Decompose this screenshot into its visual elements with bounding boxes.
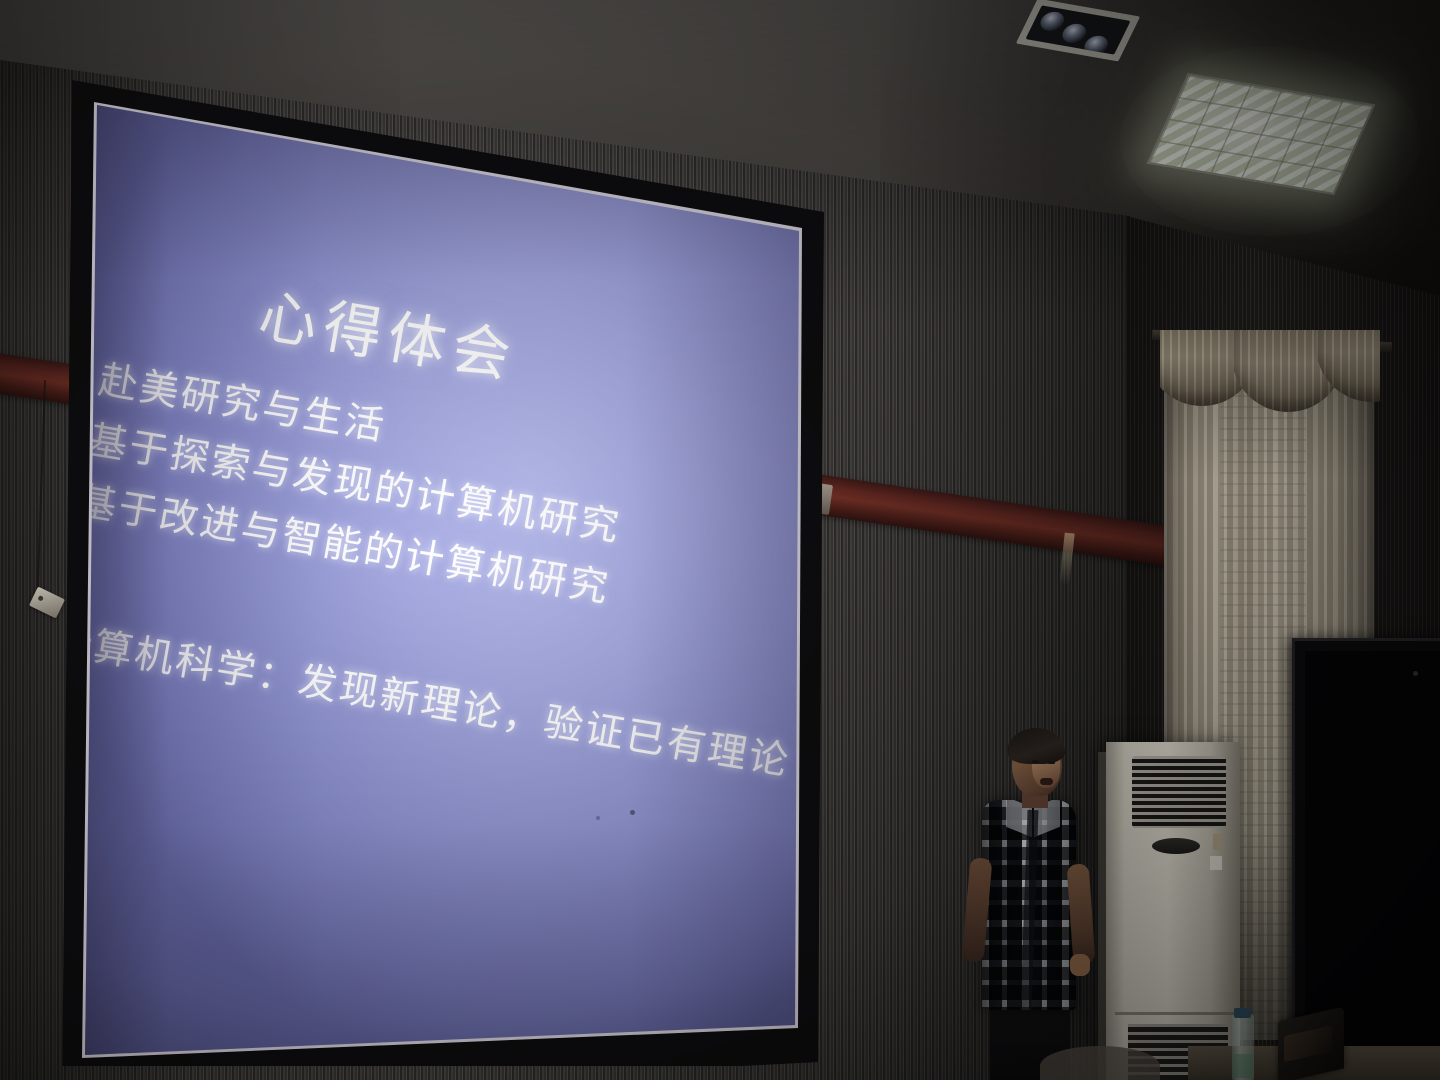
presenter-hair [1007, 728, 1065, 764]
ac-display-panel [1213, 834, 1222, 850]
presenter-plaid-shirt [982, 800, 1076, 1010]
ac-top-grille [1132, 756, 1226, 828]
switch-indicator-dot [37, 595, 44, 602]
lecture-room-scene: 心得体会 赴美研究与生活 基于探索与发现的计算机研究 基于改进与智能的计算机研究… [0, 0, 1440, 1080]
presenter-hand [1070, 954, 1090, 976]
curtain-valance [1160, 330, 1380, 460]
bottle-cap [1234, 1008, 1251, 1018]
presenter-eye [1032, 760, 1039, 763]
display-power-led-icon [1413, 671, 1418, 676]
presenter-eye [1048, 761, 1055, 764]
chair-back [1040, 1046, 1160, 1080]
spotlight-housing [1025, 5, 1130, 54]
spotlight-lamp [1081, 34, 1112, 55]
spotlight-lamp [1059, 22, 1090, 45]
ac-panel-seam [1115, 1012, 1240, 1015]
standing-presenter [960, 726, 1120, 1080]
spotlight-lamp [1037, 10, 1068, 33]
laptop-lid-sheen [1284, 1025, 1332, 1062]
ac-brand-badge [1152, 838, 1200, 854]
ac-grille-curve [1132, 756, 1226, 828]
torso-shading [982, 800, 1076, 1010]
bottle-label [1233, 1054, 1253, 1078]
ac-sticker-label [1210, 856, 1222, 870]
presenter-mouth [1040, 778, 1053, 785]
